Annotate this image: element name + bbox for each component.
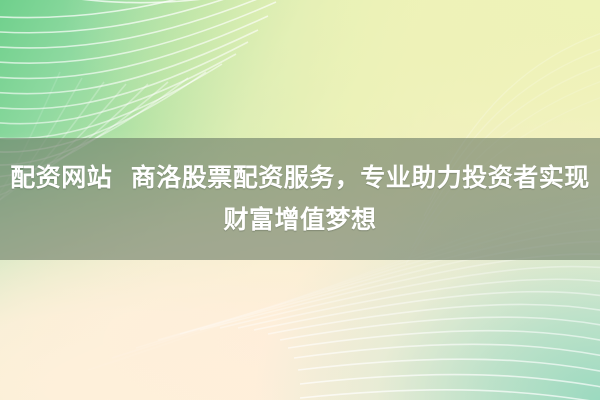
headline-band: 配资网站 商洛股票配资服务，专业助力投资者实现财富增值梦想 [0,138,600,260]
banner-headline: 配资网站 商洛股票配资服务，专业助力投资者实现财富增值梦想 [0,157,600,241]
promo-banner: 配资网站 商洛股票配资服务，专业助力投资者实现财富增值梦想 [0,0,600,400]
